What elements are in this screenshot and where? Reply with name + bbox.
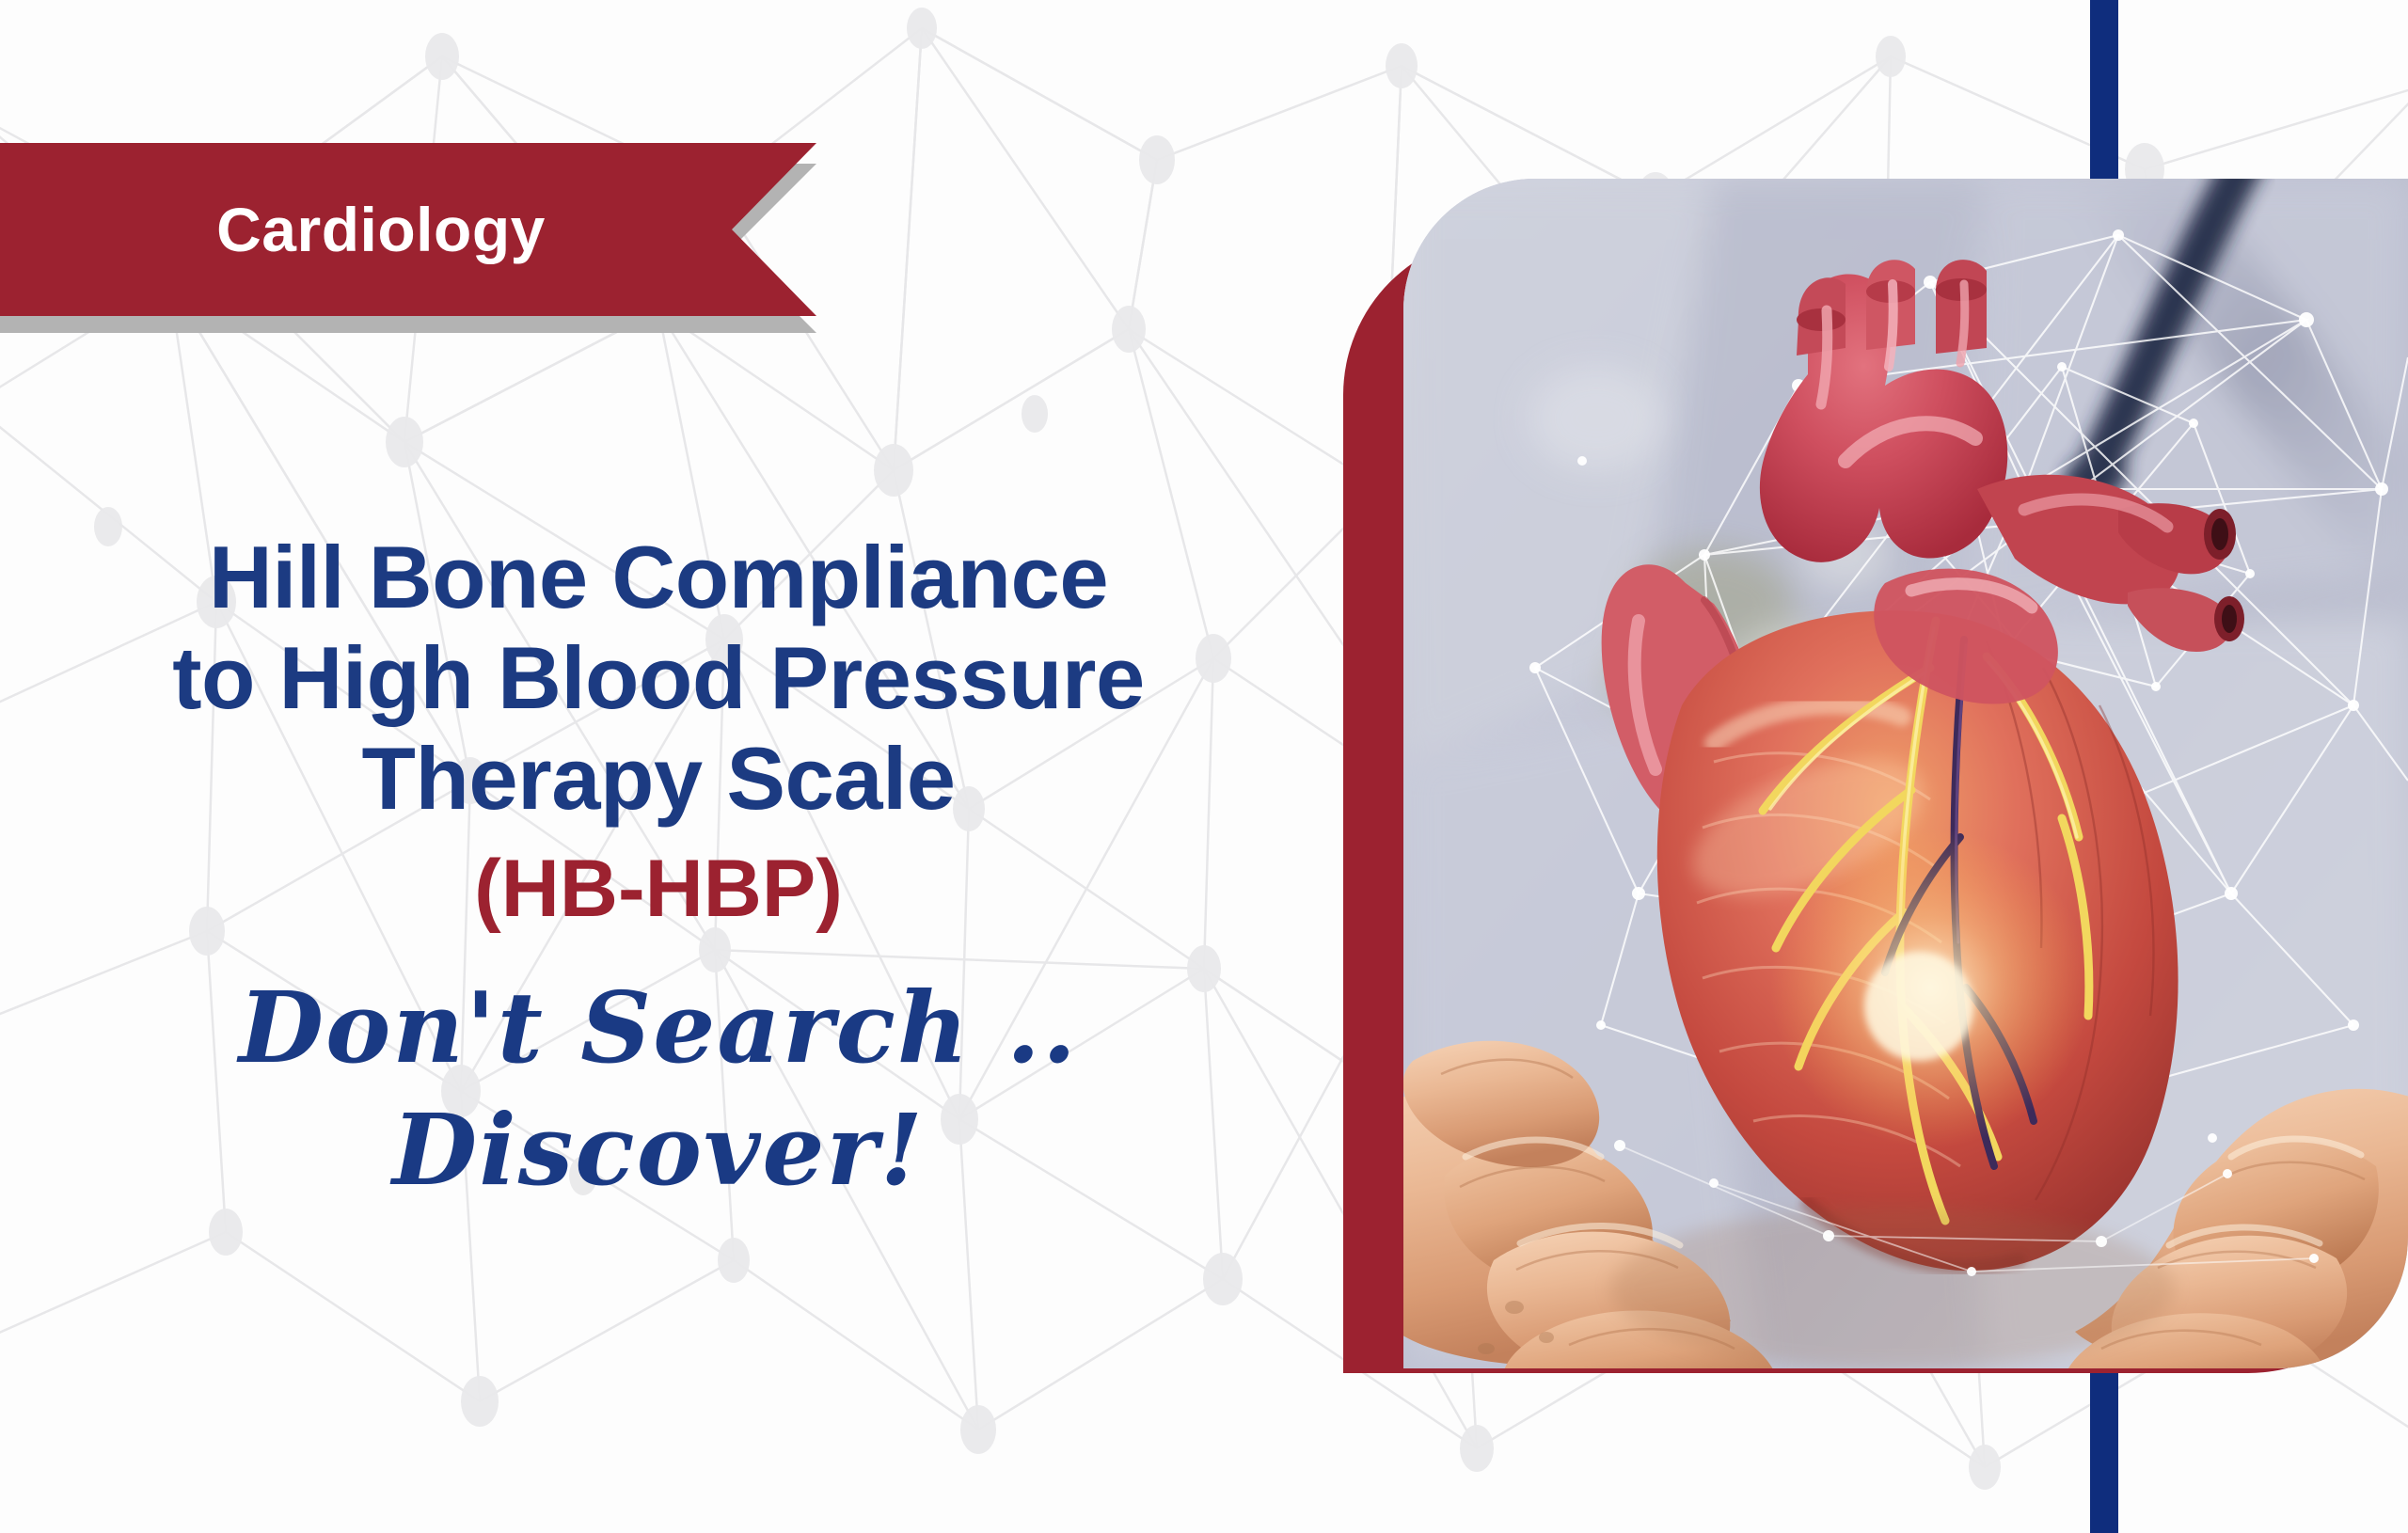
poster-canvas: Cardiology Hill Bone Compliance to High … — [0, 0, 2408, 1533]
headline-line-2: to High Blood Pressure — [0, 627, 1317, 728]
headline-line-1: Hill Bone Compliance — [0, 527, 1317, 627]
headline-block: Hill Bone Compliance to High Blood Press… — [0, 527, 1317, 1211]
headline-abbreviation: (HB-HBP) — [0, 829, 1317, 950]
ribbon-label: Cardiology — [0, 143, 734, 316]
headline-line-3: Therapy Scale — [0, 728, 1317, 829]
hero-image-heart-in-hands — [1403, 179, 2408, 1368]
hero-image-panel — [1403, 179, 2408, 1368]
tagline: Don't Search .. Discover! — [0, 967, 1317, 1211]
